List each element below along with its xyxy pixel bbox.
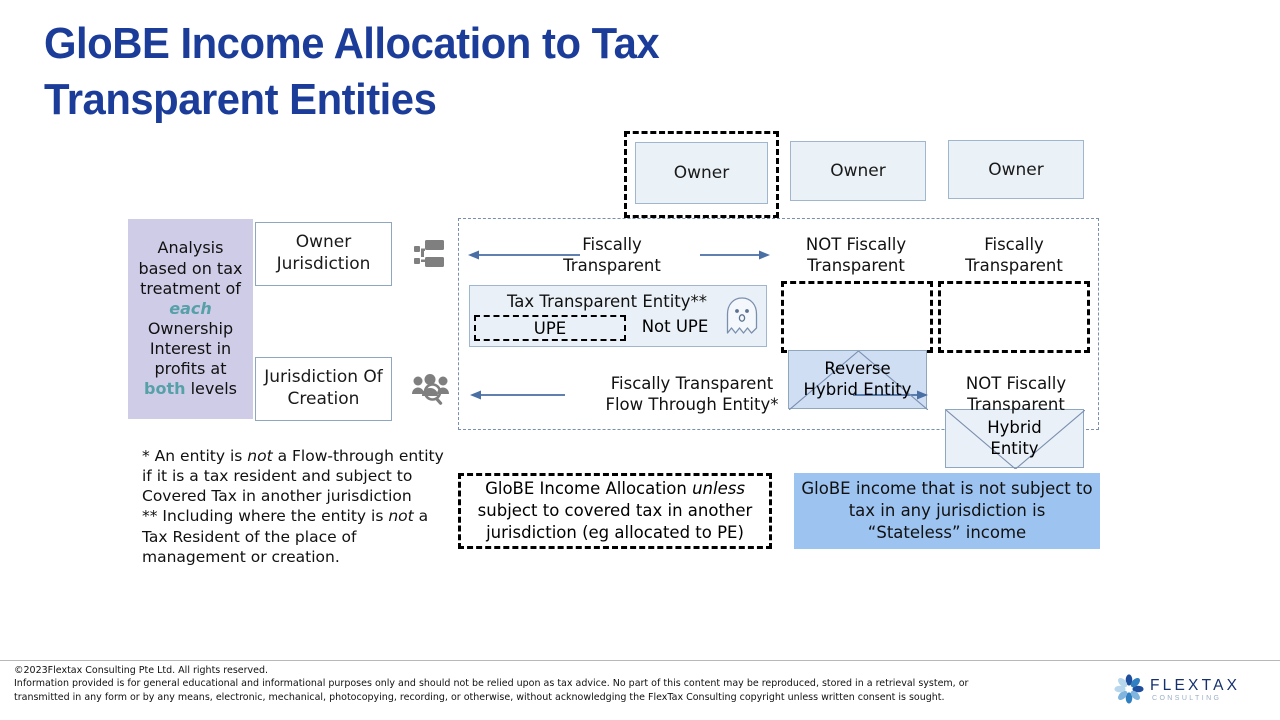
reverse-hybrid-line1: Reverse — [824, 359, 890, 378]
footnote-2-emphasis: not — [388, 507, 413, 525]
callout-stateless-income: GloBE income that is not subject to tax … — [794, 473, 1100, 549]
page-title-line-1: GloBE Income Allocation to Tax — [44, 16, 899, 72]
owner-jurisdiction-box[interactable]: Owner Jurisdiction — [255, 222, 392, 286]
highlight-frame-hybrid — [938, 281, 1090, 353]
analysis-text-part-1: Analysis based on tax treatment of — [139, 238, 243, 297]
callout-globe-income-allocation: GloBE Income Allocation unless subject t… — [458, 473, 772, 549]
highlight-frame-reverse-hybrid — [781, 281, 933, 353]
upe-box[interactable]: UPE — [474, 315, 626, 341]
analysis-panel: Analysis based on tax treatment of each … — [128, 219, 253, 419]
label-nft-mid-line1: NOT Fiscally — [778, 234, 934, 255]
label-ft-right-line2: Transparent — [936, 255, 1092, 276]
callout-left-emphasis: unless — [692, 479, 745, 498]
analysis-text-part-2: Ownership Interest in profits at — [148, 319, 233, 378]
page-title-line-2: Transparent Entities — [44, 72, 899, 128]
ghost-icon — [724, 295, 760, 339]
owner-box-1-label: Owner — [674, 163, 730, 183]
analysis-emphasis-both: both — [144, 379, 185, 398]
callout-right-text: GloBE income that is not subject to tax … — [800, 478, 1094, 543]
jurisdiction-of-creation-label: Jurisdiction Of Creation — [256, 367, 391, 411]
tax-transparent-entity-box[interactable]: Tax Transparent Entity** UPE Not UPE — [469, 285, 767, 347]
footnote-1-emphasis: not — [247, 447, 272, 465]
label-not-fiscally-transparent-bottom: NOT Fiscally Transparent — [938, 373, 1094, 415]
hybrid-entity-label: Hybrid Entity — [987, 418, 1042, 459]
jurisdiction-of-creation-box[interactable]: Jurisdiction Of Creation — [255, 357, 392, 421]
owner-box-3-label: Owner — [988, 160, 1044, 180]
tax-transparent-entity-title: Tax Transparent Entity** — [470, 292, 766, 311]
callout-left-part-b: subject to covered tax in another jurisd… — [478, 501, 753, 542]
hybrid-entity-box[interactable]: Hybrid Entity — [945, 409, 1084, 468]
owner-jurisdiction-label: Owner Jurisdiction — [256, 232, 391, 276]
owner-box-2-label: Owner — [830, 161, 886, 181]
owner-box-2[interactable]: Owner — [790, 141, 926, 201]
flextax-logo-subtitle: CONSULTING — [1152, 695, 1221, 702]
footnote-1-part-a: * An entity is — [142, 447, 247, 465]
arrow-right-top-icon — [700, 246, 770, 258]
analysis-text-part-3: levels — [186, 379, 237, 398]
reverse-hybrid-entity-box[interactable]: Reverse Hybrid Entity — [788, 350, 927, 409]
hybrid-line2: Entity — [990, 439, 1038, 458]
footer-copyright: ©2023Flextax Consulting Pte Ltd. All rig… — [14, 664, 1104, 677]
not-upe-label: Not UPE — [636, 317, 714, 336]
footer-disclaimer-line-2: transmitted in any form or by any means,… — [14, 691, 1104, 704]
arrow-left-top-icon — [468, 246, 580, 258]
label-not-fiscally-transparent-mid: NOT Fiscally Transparent — [778, 234, 934, 276]
flextax-logo-name: FLEXTAX — [1150, 677, 1240, 695]
footer-divider — [0, 660, 1280, 661]
footnote-2: ** Including where the entity is not a T… — [142, 506, 454, 566]
upe-label: UPE — [534, 319, 566, 338]
org-chart-icon — [414, 238, 446, 272]
label-nft-mid-line2: Transparent — [778, 255, 934, 276]
analysis-emphasis-each: each — [169, 299, 212, 318]
flextax-logo-mark-icon — [1114, 674, 1144, 704]
owner-box-3[interactable]: Owner — [948, 140, 1084, 199]
flextax-logo: FLEXTAX CONSULTING — [1114, 672, 1274, 706]
hybrid-line1: Hybrid — [987, 418, 1042, 437]
page-title: GloBE Income Allocation to Tax Transpare… — [44, 16, 899, 129]
owner-box-1[interactable]: Owner — [635, 142, 768, 204]
reverse-hybrid-entity-label: Reverse Hybrid Entity — [804, 359, 912, 400]
analysis-panel-text: Analysis based on tax treatment of each … — [132, 238, 249, 399]
callout-left-text: GloBE Income Allocation unless subject t… — [467, 478, 763, 543]
people-search-icon — [412, 372, 450, 406]
footnote-1: * An entity is not a Flow-through entity… — [142, 446, 454, 506]
label-fiscally-transparent-right: Fiscally Transparent — [936, 234, 1092, 276]
callout-left-part-a: GloBE Income Allocation — [485, 479, 692, 498]
label-nft-bottom-line1: NOT Fiscally — [938, 373, 1094, 394]
footnotes: * An entity is not a Flow-through entity… — [142, 446, 454, 567]
footnote-2-part-a: ** Including where the entity is — [142, 507, 388, 525]
arrow-left-bottom-icon — [470, 386, 565, 398]
label-ft-right-line1: Fiscally — [936, 234, 1092, 255]
footer-text: ©2023Flextax Consulting Pte Ltd. All rig… — [14, 664, 1104, 704]
footer-disclaimer-line-1: Information provided is for general educ… — [14, 677, 1104, 690]
reverse-hybrid-line2: Hybrid Entity — [804, 380, 912, 399]
